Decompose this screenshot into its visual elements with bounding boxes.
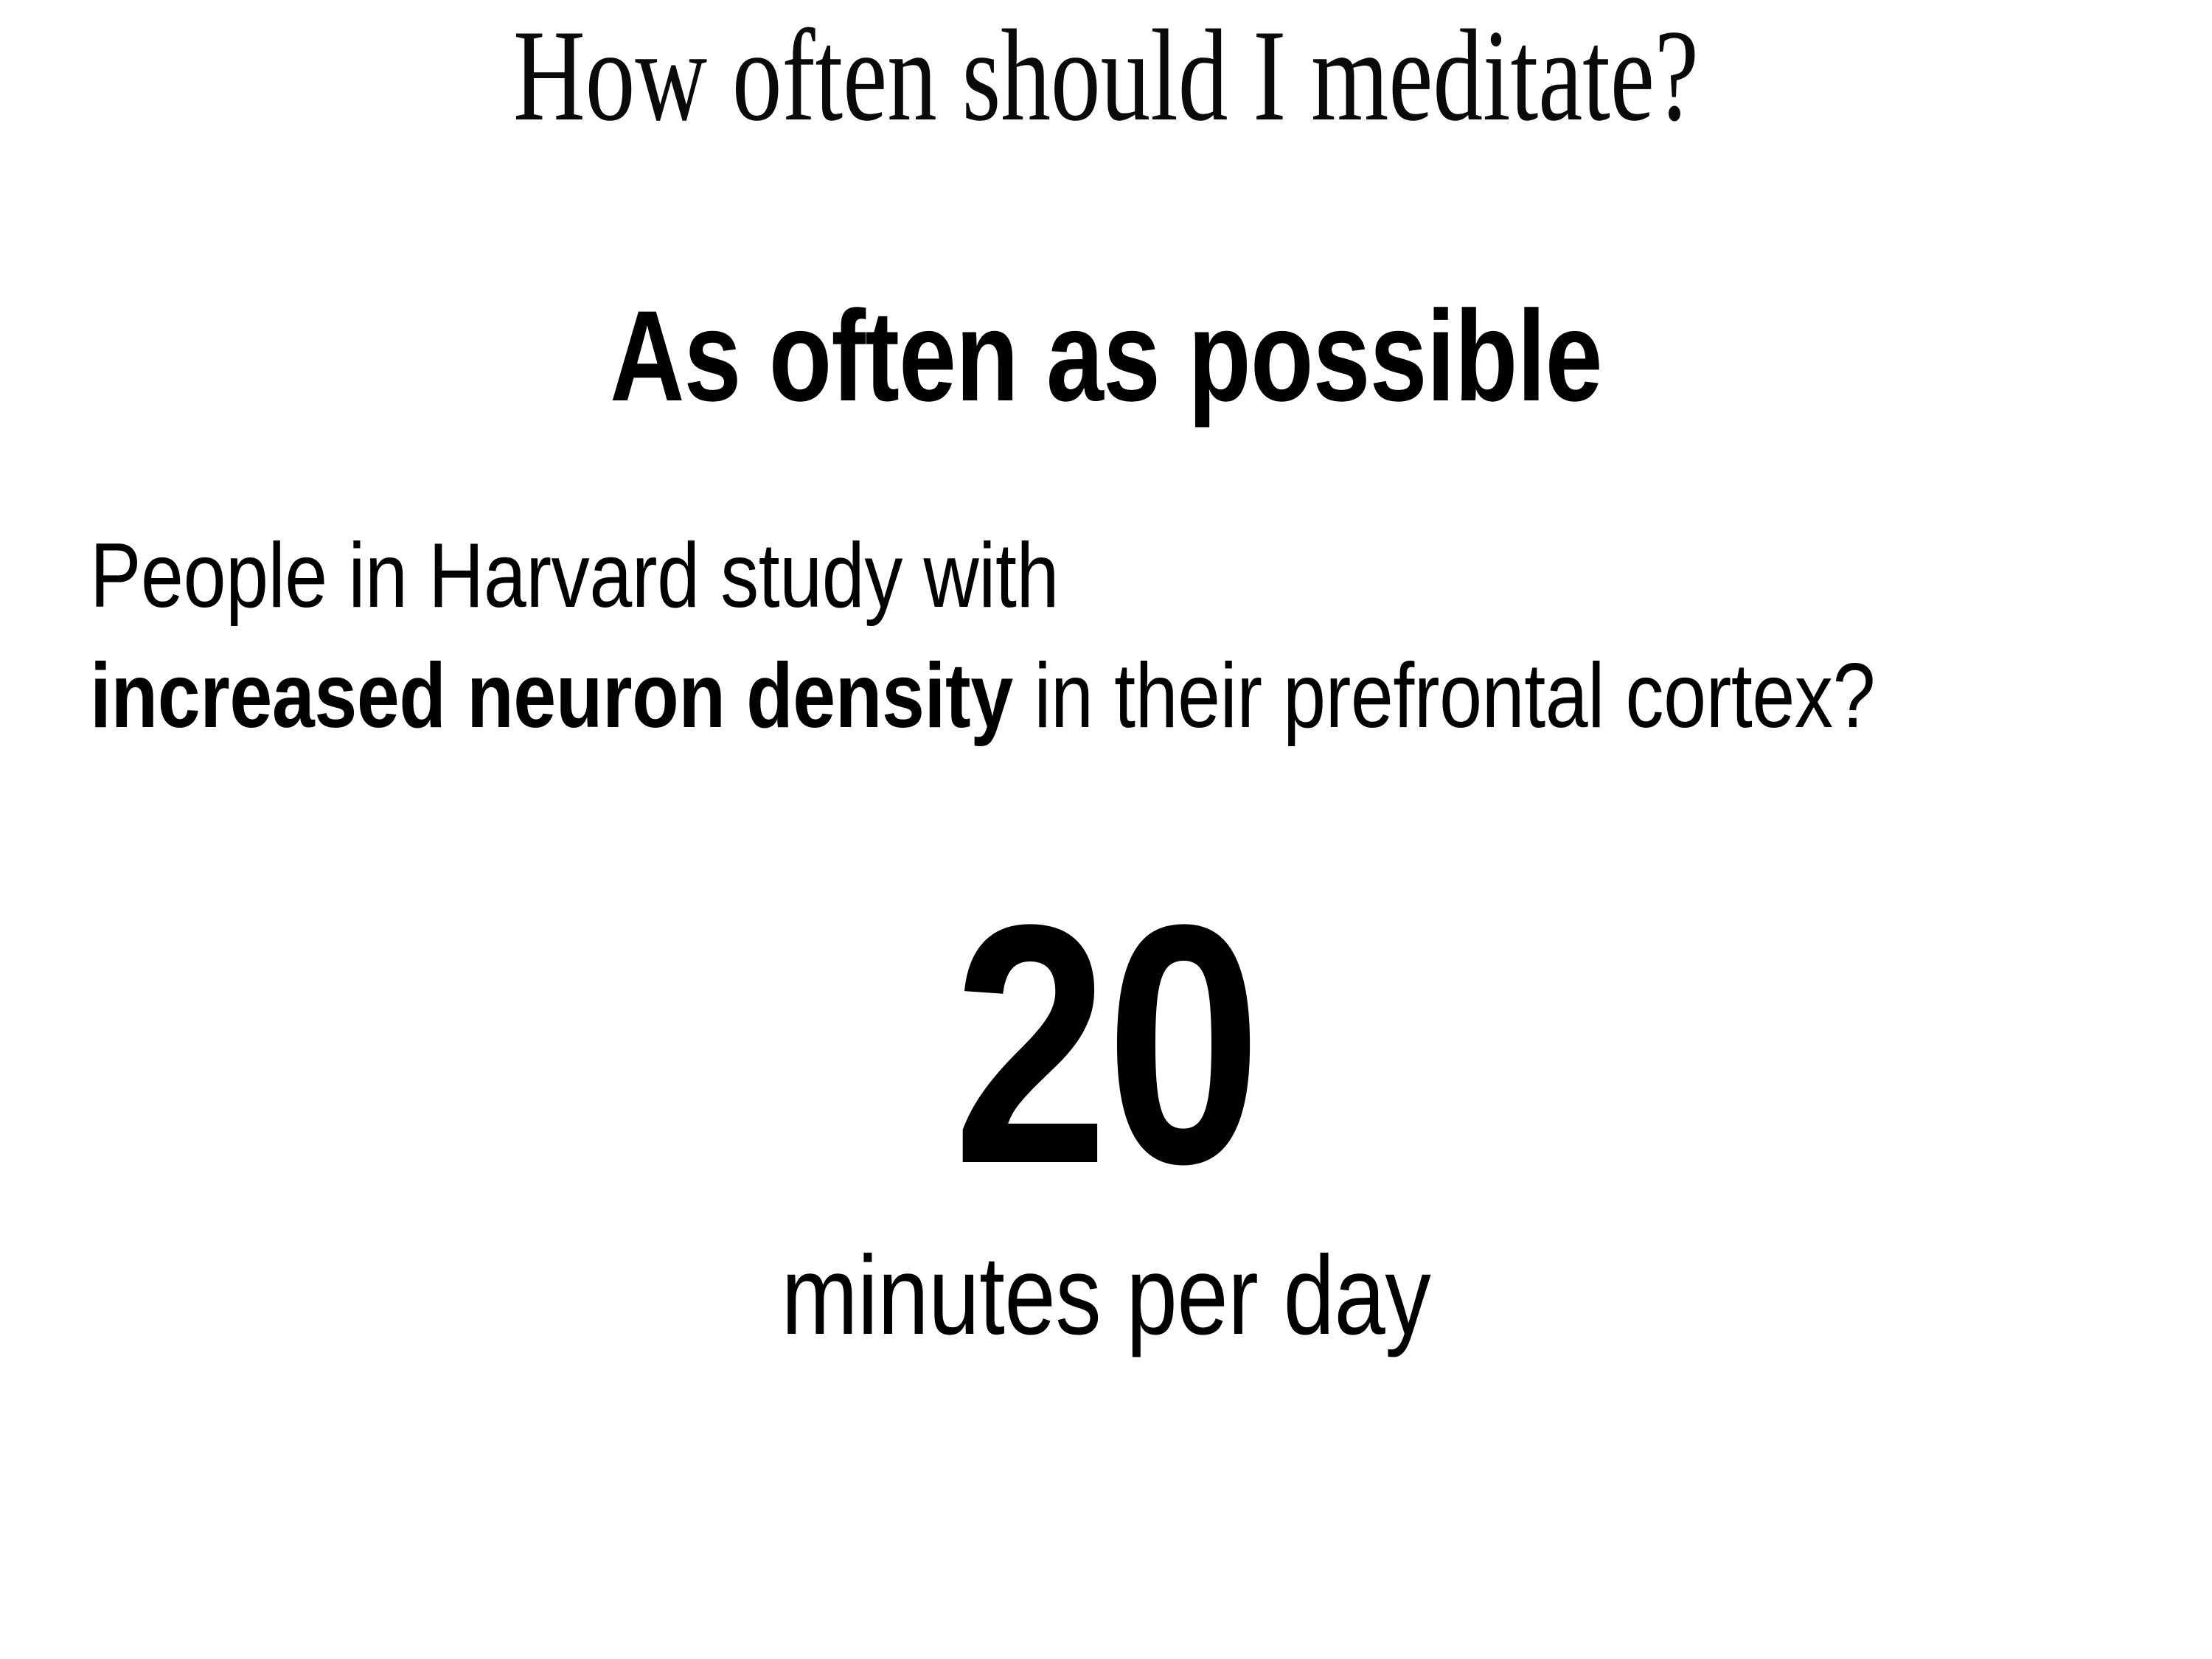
body-line-1: People in Harvard study with — [90, 516, 1824, 636]
page-title: How often should I meditate? — [265, 6, 1947, 145]
body-line-2-remainder: in their prefrontal cortex? — [1013, 645, 1875, 747]
stat-value: 20 — [199, 874, 2013, 1214]
stat-unit-label: minutes per day — [199, 1235, 2013, 1356]
headline-answer: As often as possible — [221, 286, 1991, 428]
body-paragraph: People in Harvard study with increased n… — [90, 516, 1824, 757]
body-line-2: increased neuron density in their prefro… — [90, 636, 1824, 757]
body-line-2-emphasis: increased neuron density — [90, 645, 1013, 747]
slide-canvas: How often should I meditate? As often as… — [0, 0, 2212, 1659]
